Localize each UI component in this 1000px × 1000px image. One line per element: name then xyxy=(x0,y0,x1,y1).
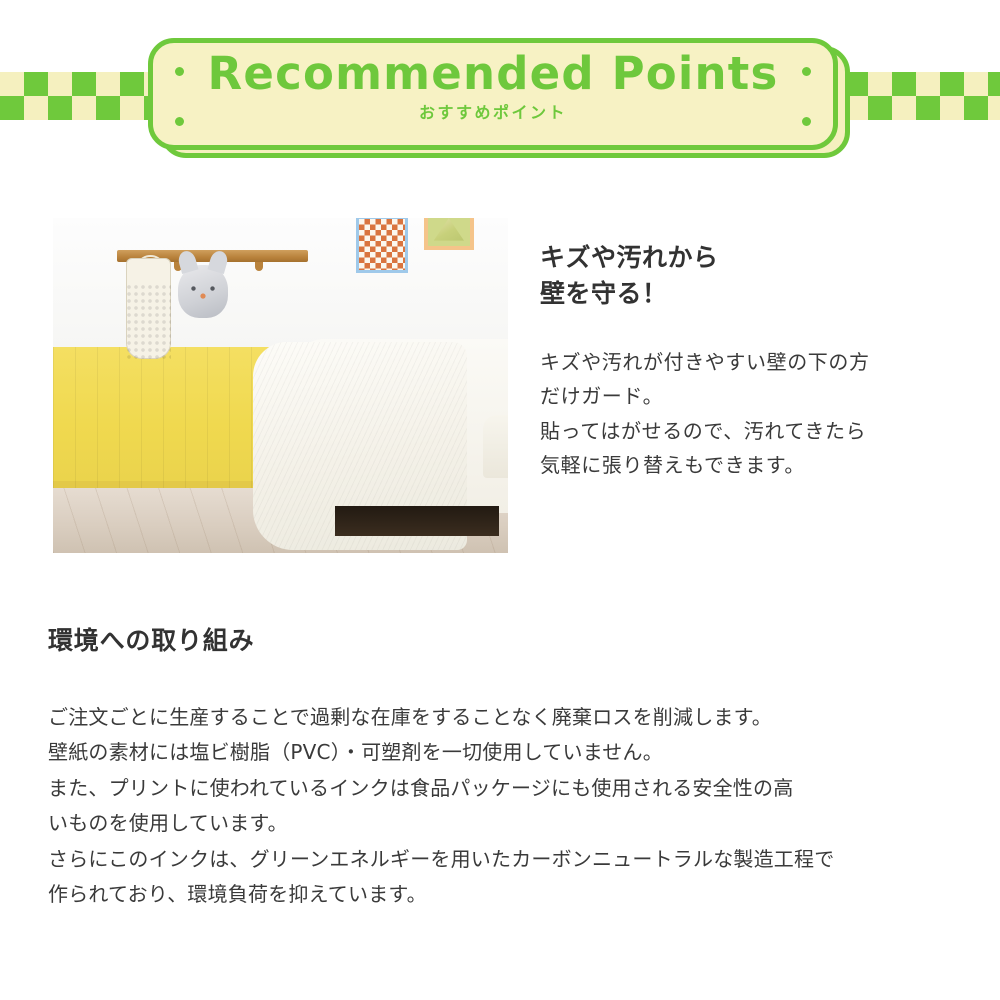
banner-subtitle: おすすめポイント xyxy=(153,105,833,121)
eco-heading: 環境への取り組み xyxy=(48,625,963,658)
eco-section: 環境への取り組み ご注文ごとに生産することで過剰な在庫をすることなく廃棄ロスを削… xyxy=(48,625,963,913)
eco-body: ご注文ごとに生産することで過剰な在庫をすることなく廃棄ロスを削減します。 壁紙の… xyxy=(48,700,963,914)
photo-cat-face xyxy=(186,286,220,300)
photo-net-bag xyxy=(126,258,172,359)
feature-body: キズや汚れが付きやすい壁の下の方 だけガード。 貼ってはがせるので、汚れてきたら… xyxy=(540,345,950,483)
photo-under-sofa-shadow xyxy=(335,506,499,536)
photo-sofa-arm xyxy=(483,415,508,478)
photo-framed-art-checker xyxy=(356,218,408,273)
feature-heading: キズや汚れから 壁を守る！ xyxy=(540,240,950,311)
photo-framed-art-green xyxy=(424,218,474,250)
banner-plaque: Recommended Points おすすめポイント xyxy=(148,38,838,150)
feature-text-column: キズや汚れから 壁を守る！ キズや汚れが付きやすい壁の下の方 だけガード。 貼っ… xyxy=(540,240,950,483)
banner-title: Recommended Points xyxy=(153,51,833,96)
photo-peg-4 xyxy=(255,262,263,271)
photo-cat-mask xyxy=(178,265,228,319)
interior-photo xyxy=(53,218,508,553)
recommended-points-banner: Recommended Points おすすめポイント xyxy=(0,0,1000,185)
feature-section: キズや汚れから 壁を守る！ キズや汚れが付きやすい壁の下の方 だけガード。 貼っ… xyxy=(53,218,953,558)
